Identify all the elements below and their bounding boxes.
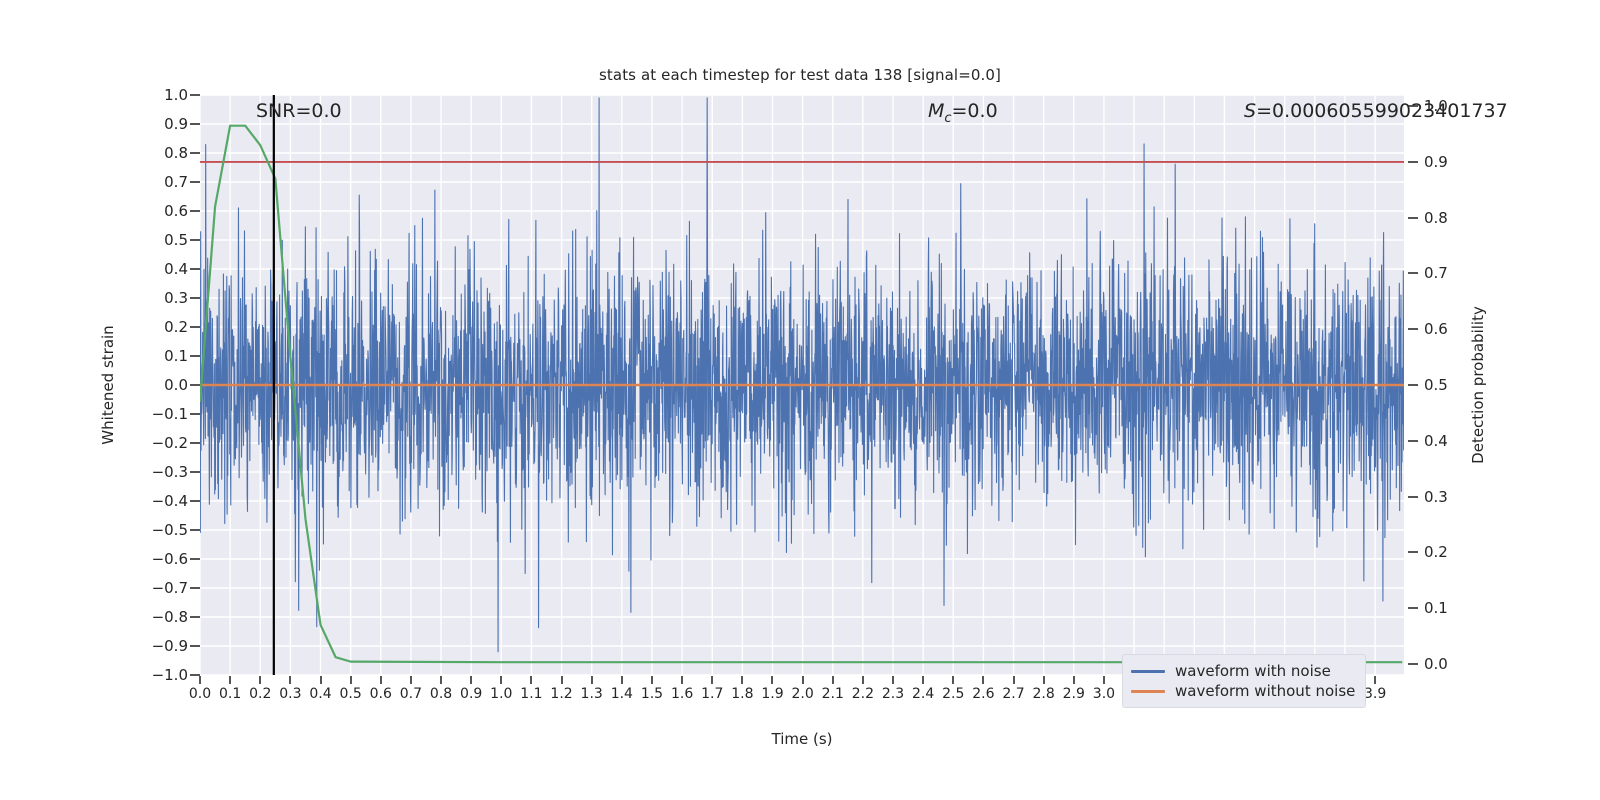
y-tick-label-left: −0.7 bbox=[152, 579, 188, 597]
y-tick-label-left: −0.5 bbox=[152, 521, 188, 539]
legend-swatch-orange bbox=[1131, 690, 1165, 693]
x-tick-mark bbox=[982, 676, 984, 684]
x-tick-label: 2.9 bbox=[1063, 686, 1085, 702]
annotation-chirp-mass-value: =0.0 bbox=[952, 100, 998, 122]
plot-area bbox=[200, 95, 1404, 675]
y-tick-label-left: 0.9 bbox=[164, 115, 188, 133]
y-tick-label-left: −0.4 bbox=[152, 492, 188, 510]
annotation-score-value: =0.000605599023401737 bbox=[1256, 100, 1508, 122]
y-tick-mark-left bbox=[190, 268, 200, 270]
x-tick-mark bbox=[922, 676, 924, 684]
x-tick-mark bbox=[1374, 676, 1376, 684]
x-tick-mark bbox=[651, 676, 653, 684]
x-tick-label: 1.9 bbox=[761, 686, 783, 702]
x-tick-label: 3.0 bbox=[1093, 686, 1115, 702]
y-tick-mark-right bbox=[1408, 328, 1418, 330]
x-axis-label: Time (s) bbox=[772, 730, 833, 748]
y-tick-mark-left bbox=[190, 442, 200, 444]
y-tick-label-right: 0.1 bbox=[1424, 599, 1448, 617]
annotation-snr: SNR=0.0 bbox=[256, 100, 342, 122]
x-tick-label: 2.2 bbox=[852, 686, 874, 702]
x-tick-label: 1.5 bbox=[641, 686, 663, 702]
y-tick-label-left: −0.1 bbox=[152, 405, 188, 423]
y-tick-mark-left bbox=[190, 326, 200, 328]
y-tick-mark-left bbox=[190, 529, 200, 531]
x-tick-label: 1.6 bbox=[671, 686, 693, 702]
x-tick-label: 2.7 bbox=[1002, 686, 1024, 702]
legend-label-waveform-with-noise: waveform with noise bbox=[1175, 662, 1331, 680]
y-tick-mark-right bbox=[1408, 161, 1418, 163]
page-title: stats at each timestep for test data 138… bbox=[0, 66, 1600, 84]
y-tick-label-right: 0.5 bbox=[1424, 376, 1448, 394]
y-tick-mark-right bbox=[1408, 496, 1418, 498]
x-tick-label: 0.3 bbox=[279, 686, 301, 702]
y-tick-mark-left bbox=[190, 645, 200, 647]
x-tick-label: 1.1 bbox=[520, 686, 542, 702]
legend-item-waveform-without-noise[interactable]: waveform without noise bbox=[1131, 681, 1355, 701]
legend-swatch-blue bbox=[1131, 670, 1165, 673]
x-tick-mark bbox=[530, 676, 532, 684]
x-tick-label: 2.6 bbox=[972, 686, 994, 702]
x-tick-mark bbox=[320, 676, 322, 684]
y-tick-mark-left bbox=[190, 500, 200, 502]
x-tick-mark bbox=[259, 676, 261, 684]
x-tick-mark bbox=[862, 676, 864, 684]
y-tick-mark-right bbox=[1408, 607, 1418, 609]
x-tick-label: 0.4 bbox=[309, 686, 331, 702]
y-tick-mark-right bbox=[1408, 440, 1418, 442]
x-tick-mark bbox=[1043, 676, 1045, 684]
y-tick-mark-right bbox=[1408, 663, 1418, 665]
x-tick-mark bbox=[621, 676, 623, 684]
y-tick-label-right: 0.7 bbox=[1424, 264, 1448, 282]
y-tick-label-left: −0.2 bbox=[152, 434, 188, 452]
y-tick-mark-right bbox=[1408, 217, 1418, 219]
annotation-chirp-mass-subscript: c bbox=[944, 111, 951, 126]
x-tick-mark bbox=[350, 676, 352, 684]
x-tick-mark bbox=[741, 676, 743, 684]
x-tick-label: 0.8 bbox=[430, 686, 452, 702]
annotation-score: S=0.000605599023401737 bbox=[1244, 100, 1508, 122]
x-tick-label: 1.2 bbox=[550, 686, 572, 702]
y-tick-label-left: 0.1 bbox=[164, 347, 188, 365]
y-tick-mark-left bbox=[190, 616, 200, 618]
legend-item-waveform-with-noise[interactable]: waveform with noise bbox=[1131, 661, 1355, 681]
x-tick-mark bbox=[199, 676, 201, 684]
series-waveform-with-noise bbox=[200, 98, 1404, 652]
x-tick-label: 1.8 bbox=[731, 686, 753, 702]
y-tick-mark-left bbox=[190, 413, 200, 415]
x-tick-mark bbox=[380, 676, 382, 684]
x-tick-label: 1.3 bbox=[581, 686, 603, 702]
x-tick-mark bbox=[591, 676, 593, 684]
x-tick-mark bbox=[952, 676, 954, 684]
y-tick-label-left: 0.4 bbox=[164, 260, 188, 278]
x-tick-label: 0.0 bbox=[189, 686, 211, 702]
x-tick-mark bbox=[711, 676, 713, 684]
x-tick-label: 1.4 bbox=[611, 686, 633, 702]
y-tick-label-left: 0.8 bbox=[164, 144, 188, 162]
x-tick-label: 1.0 bbox=[490, 686, 512, 702]
y-tick-label-right: 0.6 bbox=[1424, 320, 1448, 338]
x-tick-mark bbox=[440, 676, 442, 684]
y-tick-mark-left bbox=[190, 239, 200, 241]
y-tick-label-right: 0.3 bbox=[1424, 488, 1448, 506]
x-tick-mark bbox=[771, 676, 773, 684]
y-tick-label-left: 0.6 bbox=[164, 202, 188, 220]
x-tick-mark bbox=[681, 676, 683, 684]
y-tick-label-left: 0.0 bbox=[164, 376, 188, 394]
y-tick-label-left: −0.9 bbox=[152, 637, 188, 655]
y-tick-label-right: 0.2 bbox=[1424, 543, 1448, 561]
x-tick-mark bbox=[410, 676, 412, 684]
y-tick-mark-left bbox=[190, 355, 200, 357]
y-tick-mark-left bbox=[190, 587, 200, 589]
x-tick-mark bbox=[892, 676, 894, 684]
x-tick-label: 3.9 bbox=[1364, 686, 1386, 702]
y-tick-mark-right bbox=[1408, 272, 1418, 274]
y-tick-mark-right bbox=[1408, 384, 1418, 386]
y-axis-label-right: Detection probability bbox=[1469, 306, 1487, 464]
x-tick-mark bbox=[289, 676, 291, 684]
x-tick-label: 0.7 bbox=[400, 686, 422, 702]
y-tick-label-right: 0.0 bbox=[1424, 655, 1448, 673]
y-tick-mark-left bbox=[190, 152, 200, 154]
x-tick-mark bbox=[229, 676, 231, 684]
matplotlib-figure: stats at each timestep for test data 138… bbox=[0, 0, 1600, 800]
x-tick-label: 0.5 bbox=[340, 686, 362, 702]
x-tick-label: 2.5 bbox=[942, 686, 964, 702]
y-axis-label-left: Whitened strain bbox=[99, 325, 117, 444]
x-tick-mark bbox=[500, 676, 502, 684]
y-tick-label-left: −0.3 bbox=[152, 463, 188, 481]
legend: waveform with noise waveform without noi… bbox=[1122, 654, 1366, 708]
y-tick-mark-left bbox=[190, 384, 200, 386]
x-tick-mark bbox=[1013, 676, 1015, 684]
y-tick-mark-right bbox=[1408, 551, 1418, 553]
annotation-chirp-mass-symbol: M bbox=[928, 100, 944, 122]
y-tick-mark-left bbox=[190, 123, 200, 125]
x-tick-label: 0.1 bbox=[219, 686, 241, 702]
y-tick-mark-left bbox=[190, 94, 200, 96]
x-tick-label: 0.6 bbox=[370, 686, 392, 702]
y-tick-mark-left bbox=[190, 181, 200, 183]
x-tick-mark bbox=[470, 676, 472, 684]
y-tick-label-left: 0.5 bbox=[164, 231, 188, 249]
y-tick-label-left: −0.8 bbox=[152, 608, 188, 626]
x-tick-label: 2.0 bbox=[791, 686, 813, 702]
y-tick-label-left: 0.3 bbox=[164, 289, 188, 307]
y-tick-label-right: 0.4 bbox=[1424, 432, 1448, 450]
x-tick-label: 1.7 bbox=[701, 686, 723, 702]
y-tick-label-left: −1.0 bbox=[152, 666, 188, 684]
x-tick-mark bbox=[832, 676, 834, 684]
x-tick-label: 2.8 bbox=[1033, 686, 1055, 702]
y-tick-label-right: 0.9 bbox=[1424, 153, 1448, 171]
x-tick-mark bbox=[802, 676, 804, 684]
y-tick-mark-left bbox=[190, 210, 200, 212]
y-tick-mark-left bbox=[190, 297, 200, 299]
y-tick-label-right: 0.8 bbox=[1424, 209, 1448, 227]
x-tick-mark bbox=[561, 676, 563, 684]
y-tick-mark-left bbox=[190, 558, 200, 560]
y-tick-mark-left bbox=[190, 471, 200, 473]
x-tick-label: 2.4 bbox=[912, 686, 934, 702]
annotation-score-symbol: S bbox=[1244, 100, 1256, 122]
x-tick-label: 0.2 bbox=[249, 686, 271, 702]
y-tick-label-left: 0.2 bbox=[164, 318, 188, 336]
y-tick-label-left: 1.0 bbox=[164, 86, 188, 104]
x-tick-label: 2.1 bbox=[822, 686, 844, 702]
x-tick-label: 0.9 bbox=[460, 686, 482, 702]
x-tick-label: 2.3 bbox=[882, 686, 904, 702]
data-layer bbox=[200, 95, 1404, 675]
annotation-chirp-mass: Mc=0.0 bbox=[928, 100, 998, 126]
x-tick-mark bbox=[1103, 676, 1105, 684]
legend-label-waveform-without-noise: waveform without noise bbox=[1175, 682, 1355, 700]
x-tick-mark bbox=[1073, 676, 1075, 684]
y-tick-label-left: −0.6 bbox=[152, 550, 188, 568]
y-tick-label-left: 0.7 bbox=[164, 173, 188, 191]
